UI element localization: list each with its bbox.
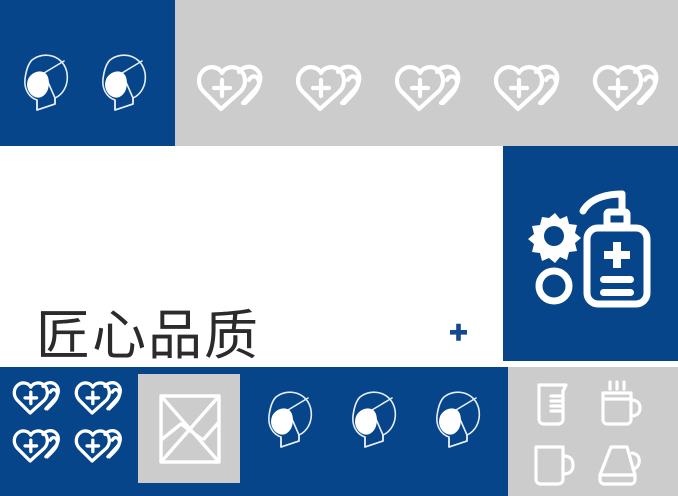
heart-pair-plus-icon — [391, 62, 469, 117]
masked-face-icon — [92, 48, 154, 116]
heart-pair-plus-icon — [10, 426, 66, 468]
top-gray-panel — [175, 0, 678, 146]
masked-face-icon — [426, 385, 488, 453]
heart-pair-plus-icon — [292, 62, 370, 117]
masked-face-icon — [342, 385, 404, 453]
headline-white-panel: 匠心品质 助推疫苗 INGENUITY QUALITY BOOST VACCIN… — [0, 146, 503, 361]
top-heart-icon-row — [193, 62, 667, 117]
small-virus-icon — [539, 271, 569, 301]
heart-pair-plus-icon — [193, 62, 271, 117]
heart-pair-plus-icon — [72, 378, 128, 420]
broken-image-placeholder-icon — [159, 394, 221, 464]
kettle-icon — [594, 439, 652, 491]
top-left-blue-panel — [0, 0, 175, 146]
plus-icon — [449, 323, 468, 342]
poster-canvas: 匠心品质 助推疫苗 INGENUITY QUALITY BOOST VACCIN… — [0, 0, 678, 496]
top-left-mask-icon-row — [14, 48, 154, 116]
bottom-heart-grid — [10, 378, 130, 483]
heart-pair-plus-icon — [490, 62, 568, 117]
masked-face-icon — [14, 48, 76, 116]
heart-pair-plus-icon — [589, 62, 667, 117]
measuring-beaker-icon — [528, 379, 586, 431]
steaming-cup-icon — [594, 379, 652, 431]
bottom-right-gray-panel — [508, 367, 678, 496]
image-placeholder-tile — [138, 374, 240, 483]
masked-face-icon — [258, 385, 320, 453]
heart-pair-plus-icon — [72, 426, 128, 468]
heart-pair-plus-icon — [10, 378, 66, 420]
bottom-mask-icon-row — [258, 385, 488, 453]
headline-line-1: 匠心品质 — [36, 306, 366, 366]
sanitizer-blue-panel — [503, 146, 678, 361]
sanitizer-icon-group — [521, 190, 663, 320]
mug-icon — [528, 439, 586, 491]
